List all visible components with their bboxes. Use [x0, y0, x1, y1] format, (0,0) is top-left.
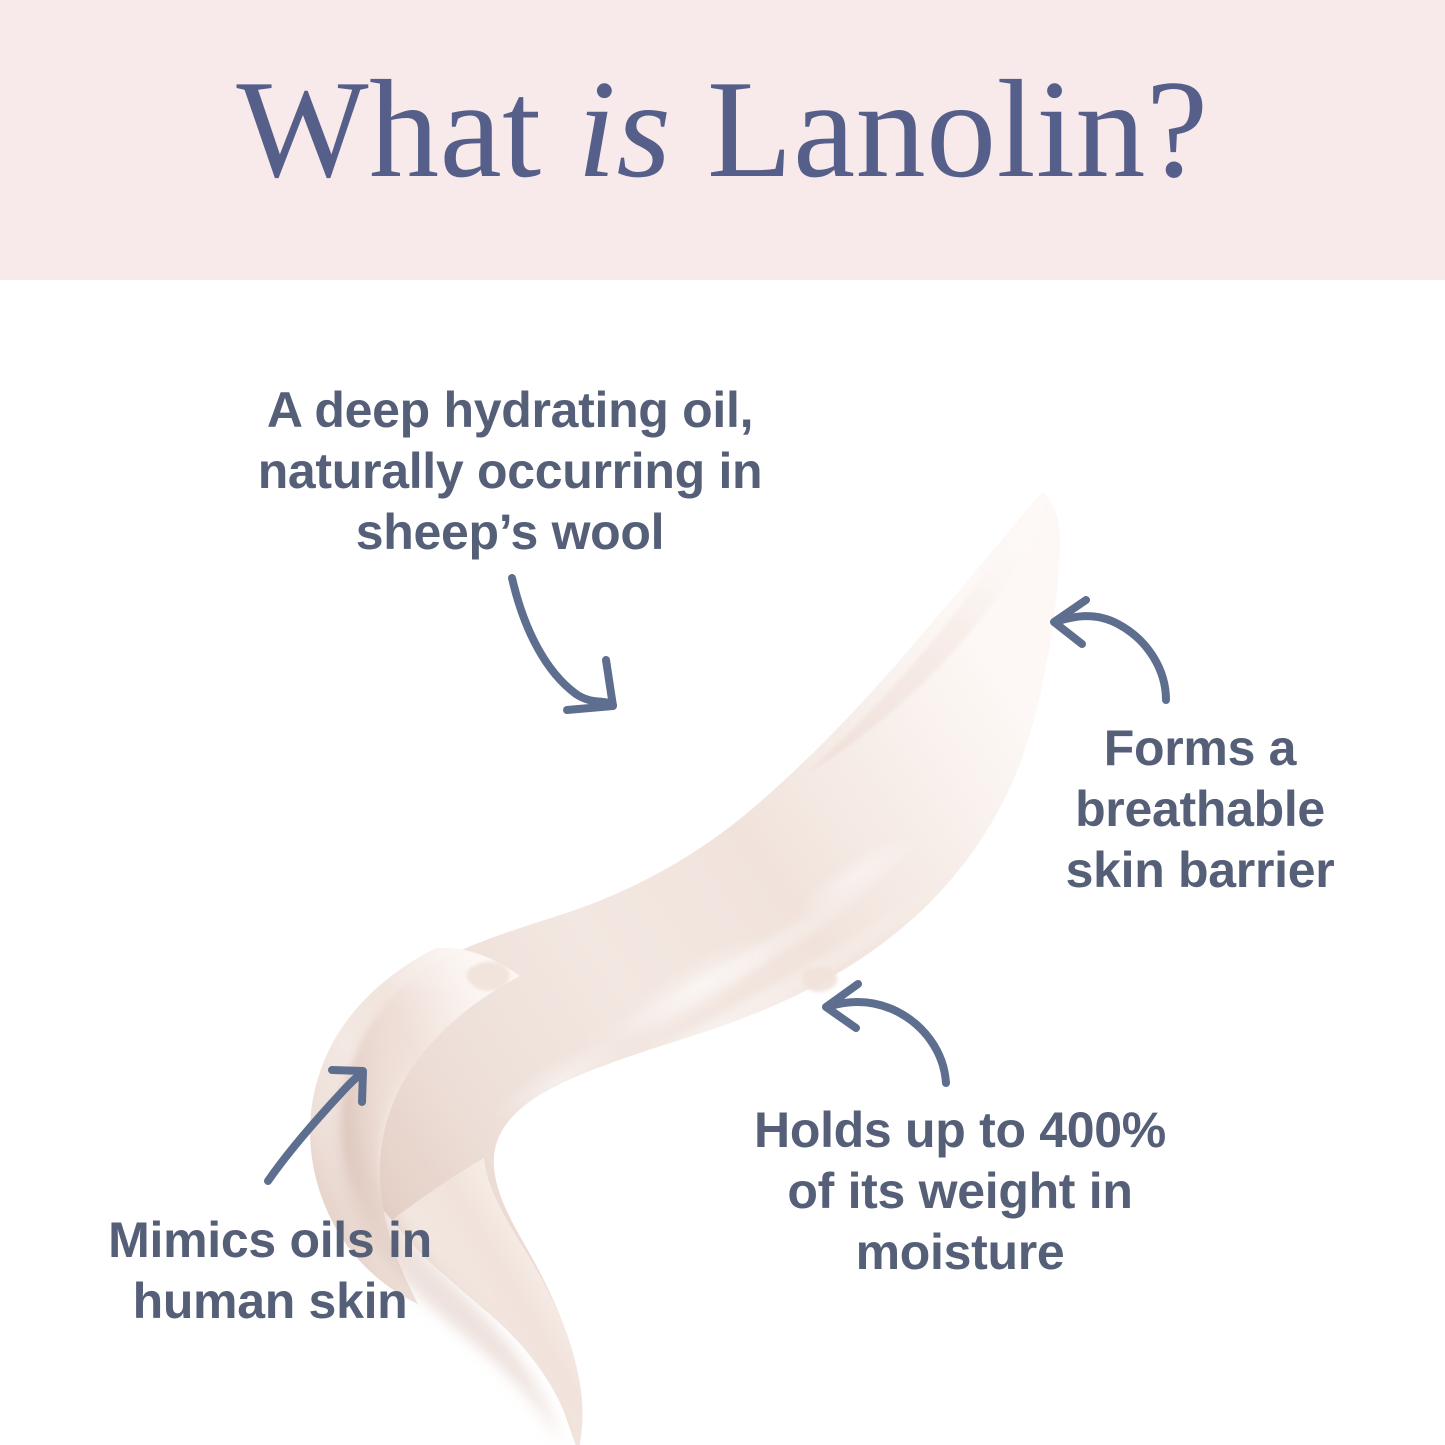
arrow-curved-up-left-icon-bottom: [826, 984, 946, 1083]
page-title: What is Lanolin?: [0, 60, 1445, 200]
callout-holds-moisture: Holds up to 400% of its weight in moistu…: [700, 1100, 1220, 1283]
arrow-curved-down-right-icon: [512, 578, 613, 710]
header-band: What is Lanolin?: [0, 0, 1445, 280]
callout-line: A deep hydrating oil,: [185, 380, 835, 441]
callout-line: human skin: [80, 1271, 460, 1332]
illustration-stage: A deep hydrating oil, naturally occurrin…: [0, 280, 1445, 1445]
arrow-curved-up-left-icon-right: [1054, 600, 1166, 700]
callout-line: breathable: [1035, 779, 1365, 840]
callout-line: skin barrier: [1035, 840, 1365, 901]
lanolin-infographic: What is Lanolin?: [0, 0, 1445, 1445]
callout-mimics-skin-oils: Mimics oils in human skin: [80, 1210, 460, 1332]
callout-line: Holds up to 400%: [700, 1100, 1220, 1161]
callout-line: moisture: [700, 1222, 1220, 1283]
callout-line: Forms a: [1035, 718, 1365, 779]
callout-deep-hydrating-oil: A deep hydrating oil, naturally occurrin…: [185, 380, 835, 563]
callout-line: of its weight in: [700, 1161, 1220, 1222]
page-title-word-1: What: [236, 52, 541, 207]
callout-breathable-barrier: Forms a breathable skin barrier: [1035, 718, 1365, 901]
page-title-word-2: is: [577, 52, 671, 207]
page-title-word-3: Lanolin?: [707, 52, 1209, 207]
callout-line: naturally occurring in: [185, 441, 835, 502]
callout-line: Mimics oils in: [80, 1210, 460, 1271]
callout-line: sheep’s wool: [185, 502, 835, 563]
